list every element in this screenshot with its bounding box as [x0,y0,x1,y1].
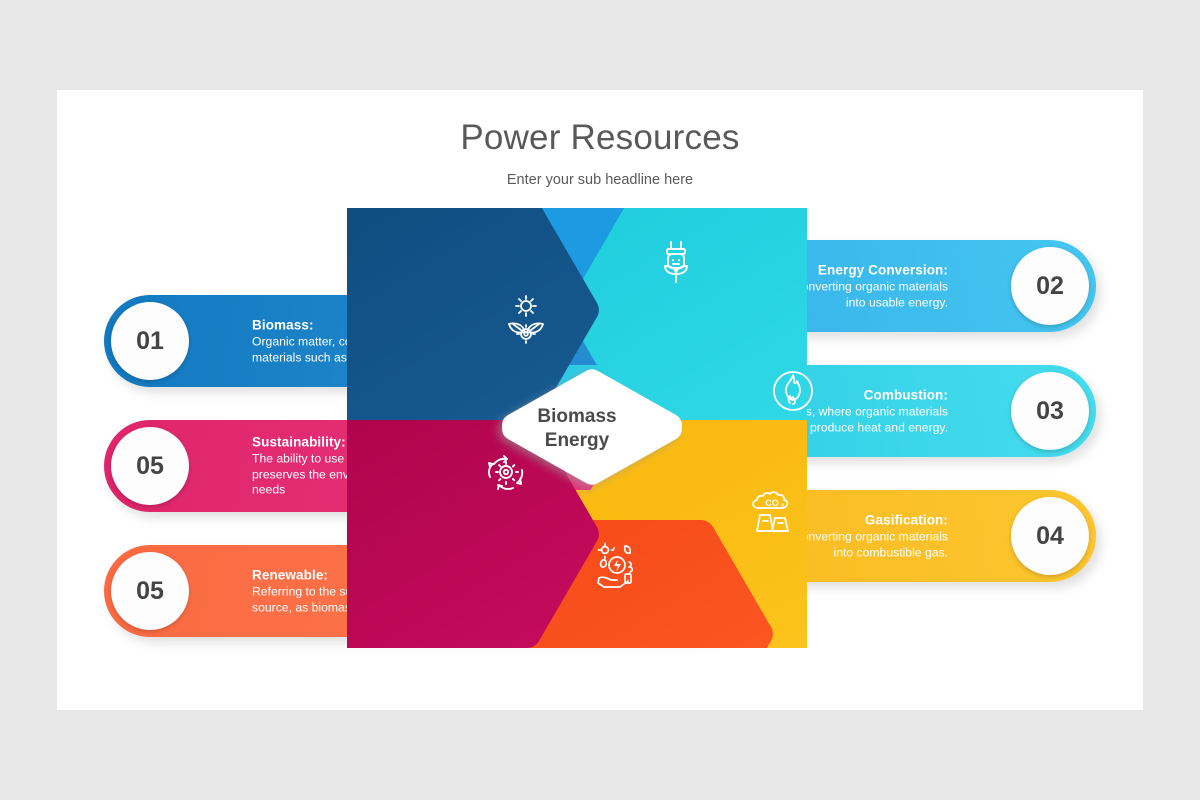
card-number-bubble: 01 [111,302,189,380]
card-number: 04 [1036,522,1064,551]
card-number-bubble: 04 [1011,497,1089,575]
card-number: 01 [136,327,164,356]
page-title: Power Resources [57,118,1143,158]
slide-canvas: Power Resources Enter your sub headline … [57,90,1143,710]
card-number-bubble: 05 [111,552,189,630]
card-number: 05 [136,577,164,606]
card-number: 05 [136,452,164,481]
card-number: 02 [1036,272,1064,301]
card-number: 03 [1036,397,1064,426]
page-subtitle: Enter your sub headline here [57,172,1143,188]
card-number-bubble: 03 [1011,372,1089,450]
center-hexagon: Biomass Energy [469,318,685,540]
center-label: Biomass Energy [469,318,685,540]
center-line-2: Energy [545,429,609,453]
hexagon-cluster: CO 2 [347,208,807,648]
card-number-bubble: 02 [1011,247,1089,325]
card-number-bubble: 05 [111,427,189,505]
center-line-1: Biomass [537,405,616,429]
